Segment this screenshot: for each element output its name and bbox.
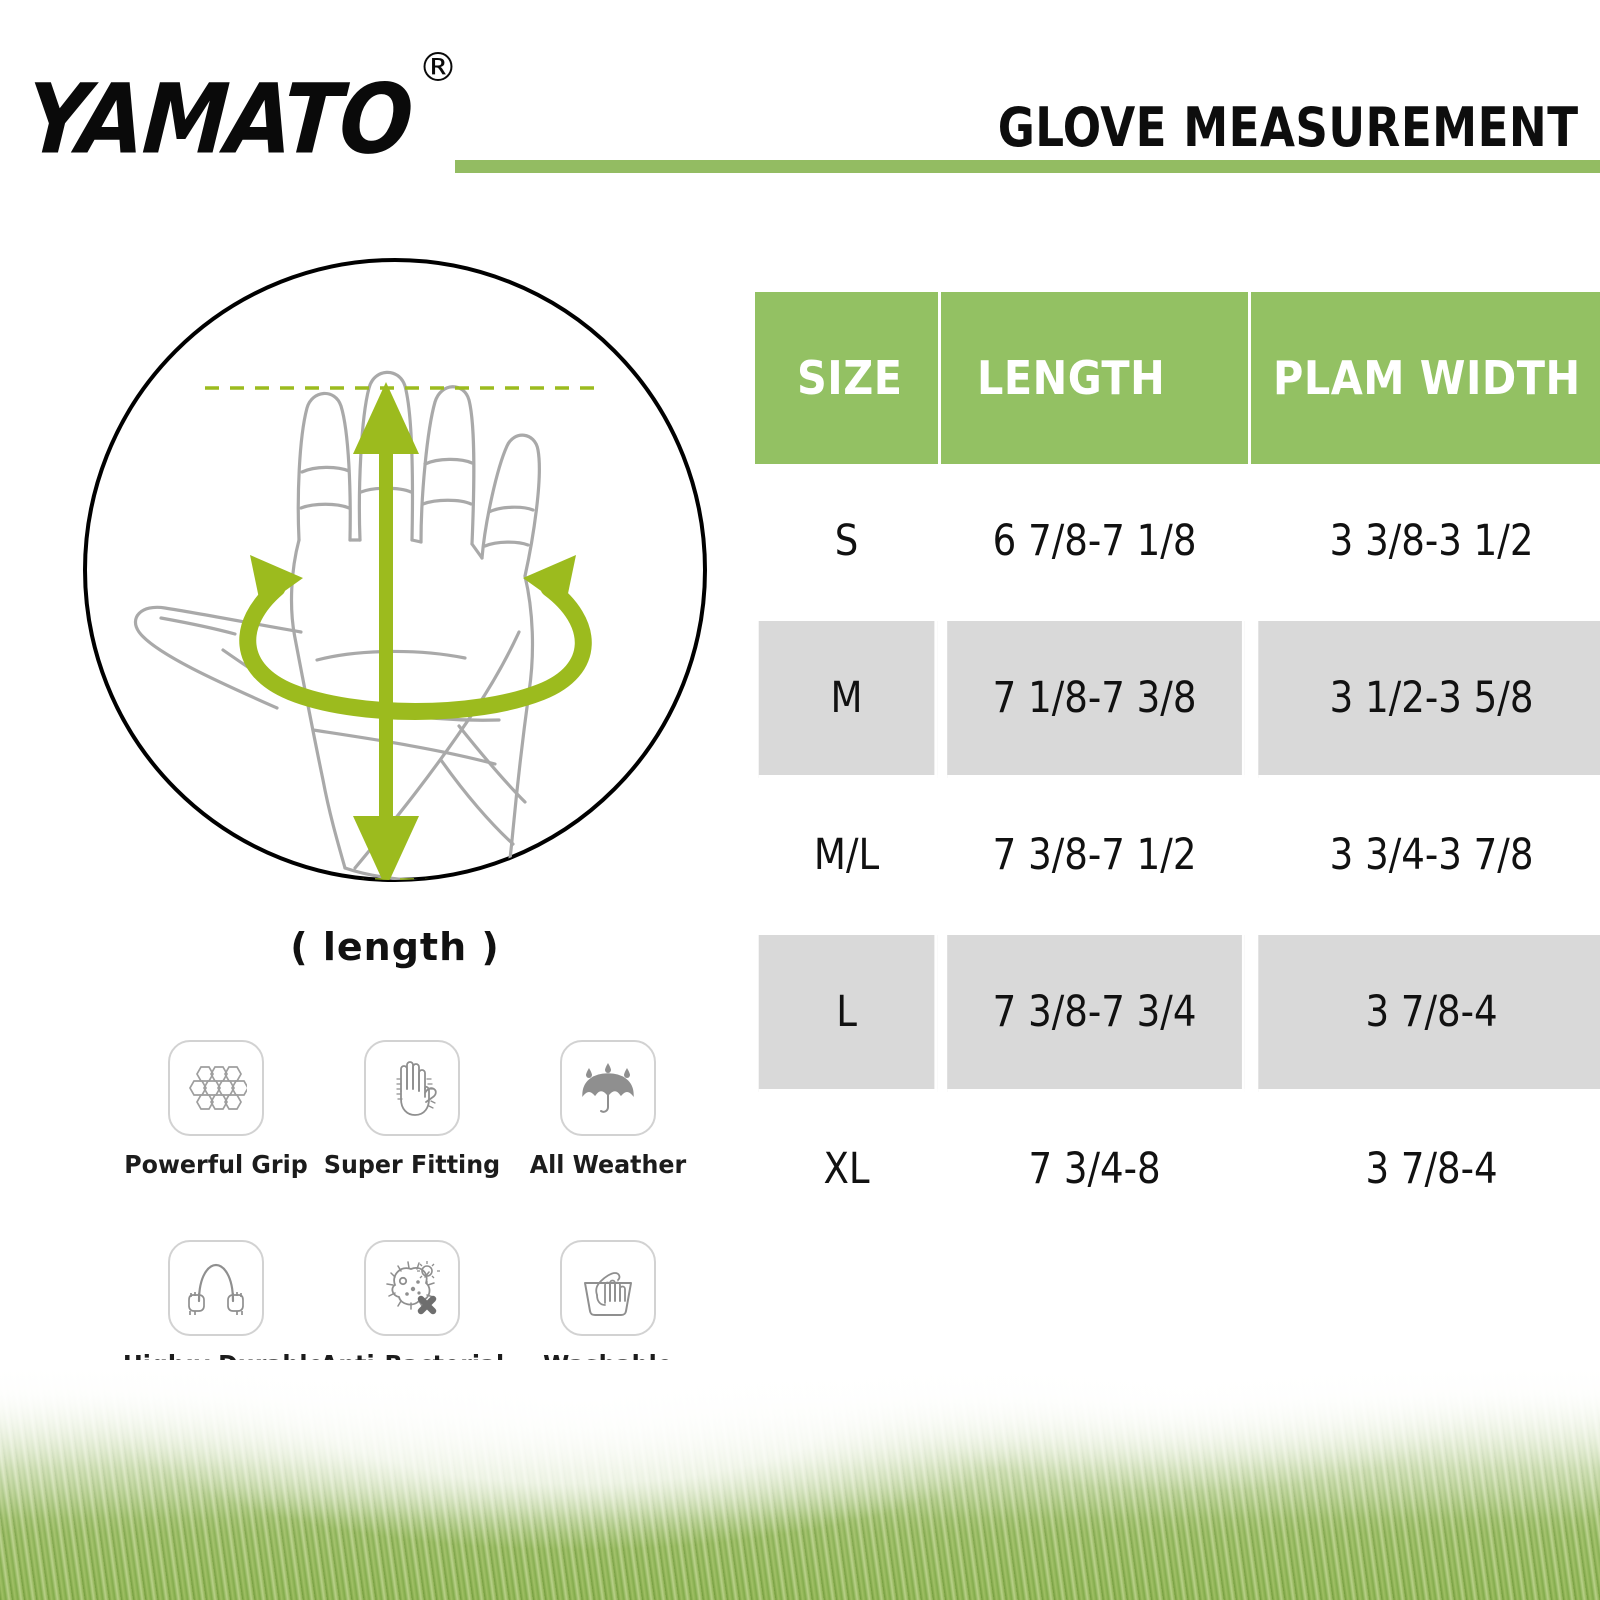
- feature-label: All Weather: [515, 1150, 701, 1179]
- cell-length: 7 3/8-7 1/2: [947, 778, 1245, 935]
- cell-size: XL: [759, 1092, 938, 1249]
- table-row: XL 7 3/4-8 3 7/8-4: [755, 1092, 1600, 1249]
- table-row: M/L 7 3/8-7 1/2 3 3/4-3 7/8: [755, 778, 1600, 935]
- honeycomb-icon: [168, 1040, 264, 1136]
- stretch-hands-icon: [168, 1240, 264, 1336]
- table-row: L 7 3/8-7 3/4 3 7/8-4: [755, 935, 1600, 1092]
- cell-size: S: [759, 464, 938, 621]
- table-body: S 6 7/8-7 1/8 3 3/8-3 1/2 M 7 1/8-7 3/8 …: [755, 464, 1600, 1249]
- cell-length: 7 3/4-8: [947, 1092, 1245, 1249]
- glove-measurement-infographic: YAMATO ® GLOVE MEASUREMENT: [0, 0, 1600, 1600]
- brand-logo: YAMATO ®: [30, 72, 450, 182]
- cell-size: M: [759, 621, 938, 778]
- brand-name: YAMATO: [23, 72, 450, 168]
- cell-palm-width: 3 7/8-4: [1258, 935, 1600, 1092]
- cell-length: 6 7/8-7 1/8: [947, 464, 1245, 621]
- cell-size: L: [759, 935, 938, 1092]
- header-divider: [455, 160, 1600, 173]
- table-header: SIZE LENGTH PLAM WIDTH: [755, 292, 1600, 464]
- registered-trademark-icon: ®: [418, 48, 458, 88]
- cell-palm-width: 3 3/8-3 1/2: [1258, 464, 1600, 621]
- feature-super-fitting: Super Fitting: [314, 1040, 510, 1240]
- table-header-row: SIZE LENGTH PLAM WIDTH: [755, 292, 1600, 464]
- table-row: S 6 7/8-7 1/8 3 3/8-3 1/2: [755, 464, 1600, 621]
- page-header: YAMATO ® GLOVE MEASUREMENT: [0, 0, 1600, 200]
- cell-palm-width: 3 1/2-3 5/8: [1258, 621, 1600, 778]
- column-header-palm-width: PLAM WIDTH: [1251, 292, 1600, 464]
- hand-wash-basin-icon: [560, 1240, 656, 1336]
- cell-length: 7 3/8-7 3/4: [947, 935, 1245, 1092]
- table-row: M 7 1/8-7 3/8 3 1/2-3 5/8: [755, 621, 1600, 778]
- feature-label: Super Fitting: [319, 1150, 505, 1179]
- size-chart-table: SIZE LENGTH PLAM WIDTH S 6 7/8-7 1/8 3 3…: [755, 292, 1600, 1249]
- feature-label: Powerful Grip: [123, 1150, 309, 1179]
- diagram-circle: [85, 260, 705, 880]
- cell-length: 7 1/8-7 3/8: [947, 621, 1245, 778]
- grass-fade-overlay: [0, 1360, 1600, 1600]
- hand-measurement-diagram: [55, 240, 735, 920]
- feature-all-weather: All Weather: [510, 1040, 706, 1240]
- umbrella-rain-icon: [560, 1040, 656, 1136]
- cell-size: M/L: [759, 778, 938, 935]
- grass-background: [0, 1360, 1600, 1600]
- germ-blocked-icon: [364, 1240, 460, 1336]
- column-header-length: LENGTH: [941, 292, 1251, 464]
- length-caption: ( length ): [55, 925, 735, 969]
- column-header-size: SIZE: [755, 292, 941, 464]
- feature-powerful-grip: Powerful Grip: [118, 1040, 314, 1240]
- hand-fitting-icon: [364, 1040, 460, 1136]
- cell-palm-width: 3 3/4-3 7/8: [1258, 778, 1600, 935]
- page-title: GLOVE MEASUREMENT: [997, 96, 1578, 159]
- cell-palm-width: 3 7/8-4: [1258, 1092, 1600, 1249]
